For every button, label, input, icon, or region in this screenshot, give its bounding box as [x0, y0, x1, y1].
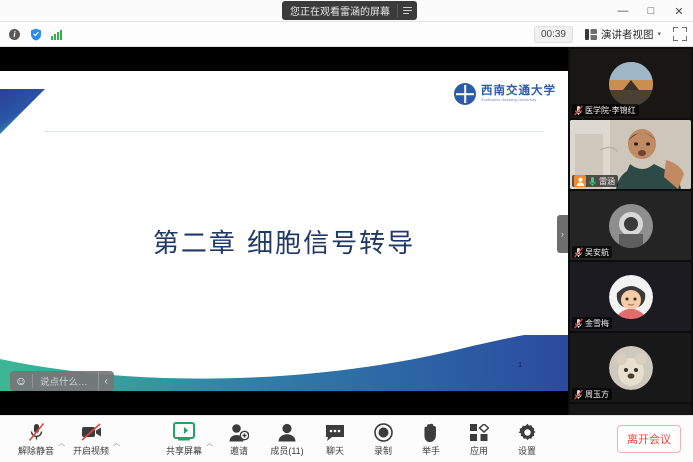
tile-background	[570, 404, 691, 415]
participants-label: 成员(11)	[270, 444, 303, 457]
record-label: 录制	[374, 444, 392, 457]
view-mode-label: 演讲者视图	[601, 27, 654, 42]
view-mode-selector[interactable]: 演讲者视图 ▾	[581, 25, 665, 44]
share-options-chevron-icon[interactable]: ︿	[206, 438, 213, 448]
raise-hand-button[interactable]: 举手	[407, 417, 455, 461]
raise-hand-icon	[422, 422, 440, 442]
audio-options-chevron-icon[interactable]: ︿	[58, 438, 65, 448]
mic-active-icon	[588, 176, 597, 187]
participants-icon	[277, 422, 297, 442]
participant-name: 周玉方	[585, 389, 609, 400]
maximize-button[interactable]: □	[637, 0, 665, 22]
mic-muted-icon	[28, 422, 45, 442]
participant-nametag: 金雪梅	[572, 317, 612, 329]
share-screen-icon	[173, 422, 195, 442]
signal-bars-icon	[51, 29, 62, 40]
speaker-view-icon	[585, 29, 597, 40]
chevron-down-icon: ▾	[657, 30, 661, 38]
university-name-en: Southwest Jiaotong University	[481, 99, 556, 103]
video-off-icon	[81, 422, 102, 442]
share-screen-button[interactable]: 共享屏幕	[160, 417, 208, 461]
mic-muted-icon	[574, 105, 583, 116]
title-bar: 您正在观看雷涵的屏幕 — □ ✕	[0, 0, 693, 22]
share-banner-text: 您正在观看雷涵的屏幕	[290, 3, 390, 18]
minimize-button[interactable]: —	[609, 0, 637, 22]
fullscreen-icon[interactable]	[673, 27, 687, 41]
slide-title: 第二章 细胞信号转导	[0, 223, 568, 260]
zoom-meeting-window: 您正在观看雷涵的屏幕 — □ ✕ i 00:39	[0, 0, 693, 462]
leave-meeting-button[interactable]: 离开会议	[617, 425, 681, 453]
chat-input[interactable]: 说点什么…	[32, 374, 98, 388]
participant-nametag: 医学院-李锦红	[572, 104, 639, 116]
network-quality-button[interactable]	[48, 26, 65, 43]
participant-name: 医学院-李锦红	[585, 105, 636, 116]
participants-button[interactable]: 成员(11)	[263, 417, 311, 461]
participant-name: 吴安航	[585, 247, 609, 258]
participant-tile-active-speaker[interactable]: 雷涵	[570, 120, 691, 189]
invite-label: 邀请	[230, 444, 248, 457]
participant-tile[interactable]	[570, 404, 691, 415]
participant-nametag: 周玉方	[572, 388, 612, 400]
university-name-cn: 西南交通大学	[481, 85, 556, 97]
participant-tile[interactable]: 金雪梅	[570, 262, 691, 331]
shield-icon	[30, 28, 42, 41]
participant-nametag: 吴安航	[572, 246, 612, 258]
chat-icon	[325, 422, 345, 442]
participant-nametag: 雷涵	[572, 175, 618, 187]
share-screen-label: 共享屏幕	[166, 444, 202, 457]
start-video-button[interactable]: 开启视频	[67, 417, 115, 461]
participant-tile[interactable]: 医学院-李锦红	[570, 49, 691, 118]
participant-tile[interactable]: 吴安航	[570, 191, 691, 260]
shared-screen-stage: 西南交通大学 Southwest Jiaotong University 第二章…	[0, 47, 568, 415]
meeting-info-button[interactable]: i	[6, 26, 23, 43]
apps-icon	[470, 422, 489, 442]
raise-hand-label: 举手	[422, 444, 440, 457]
settings-label: 设置	[518, 444, 536, 457]
encryption-button[interactable]	[27, 26, 44, 43]
window-controls: — □ ✕	[609, 0, 693, 22]
avatar	[609, 346, 653, 390]
participant-name: 金雪梅	[585, 318, 609, 329]
emoji-icon[interactable]: ☺	[10, 371, 32, 391]
apps-label: 应用	[470, 444, 488, 457]
slide-page-number: 1	[518, 362, 522, 369]
hamburger-menu-icon[interactable]	[397, 4, 412, 17]
video-options-chevron-icon[interactable]: ︿	[113, 438, 120, 448]
apps-button[interactable]: 应用	[455, 417, 503, 461]
screen-share-banner[interactable]: 您正在观看雷涵的屏幕	[282, 1, 417, 20]
university-crest-icon	[454, 83, 476, 105]
participant-name: 雷涵	[599, 176, 615, 187]
invite-button[interactable]: 邀请	[215, 417, 263, 461]
avatar	[609, 204, 653, 248]
meeting-bar-right: 00:39 演讲者视图 ▾	[534, 25, 687, 44]
participant-video-strip[interactable]: 医学院-李锦红	[568, 47, 693, 415]
avatar	[609, 62, 653, 106]
chat-button[interactable]: 聊天	[311, 417, 359, 461]
unmute-button[interactable]: 解除静音	[12, 417, 60, 461]
host-badge-icon	[574, 175, 586, 187]
meeting-controls-toolbar: 解除静音 ︿ 开启视频 ︿ 共享屏幕 ︿ 邀请	[0, 415, 693, 462]
meeting-timer: 00:39	[534, 26, 573, 43]
unmute-label: 解除静音	[18, 444, 54, 457]
info-icon: i	[9, 29, 20, 40]
slide-corner-decoration	[0, 89, 45, 134]
university-logo: 西南交通大学 Southwest Jiaotong University	[454, 83, 556, 105]
mic-muted-icon	[574, 247, 583, 258]
record-button[interactable]: 录制	[359, 417, 407, 461]
status-icons: i	[6, 26, 65, 43]
start-video-label: 开启视频	[73, 444, 109, 457]
mic-muted-icon	[574, 389, 583, 400]
record-icon	[374, 422, 393, 442]
close-button[interactable]: ✕	[665, 0, 693, 22]
panel-collapse-handle[interactable]: ›	[557, 215, 568, 253]
slide-header-rule	[44, 131, 544, 132]
gear-icon	[518, 422, 537, 442]
mic-muted-icon	[574, 318, 583, 329]
presentation-slide: 西南交通大学 Southwest Jiaotong University 第二章…	[0, 71, 568, 391]
settings-button[interactable]: 设置	[503, 417, 551, 461]
chat-label: 聊天	[326, 444, 344, 457]
invite-icon	[229, 422, 249, 442]
participant-tile[interactable]: 周玉方	[570, 333, 691, 402]
chat-collapse-icon[interactable]: ‹	[98, 371, 114, 391]
in-meeting-chat-bar[interactable]: ☺ 说点什么… ‹	[10, 371, 114, 391]
avatar	[609, 275, 653, 319]
meeting-info-bar: i 00:39 演讲者视图 ▾	[0, 22, 693, 47]
